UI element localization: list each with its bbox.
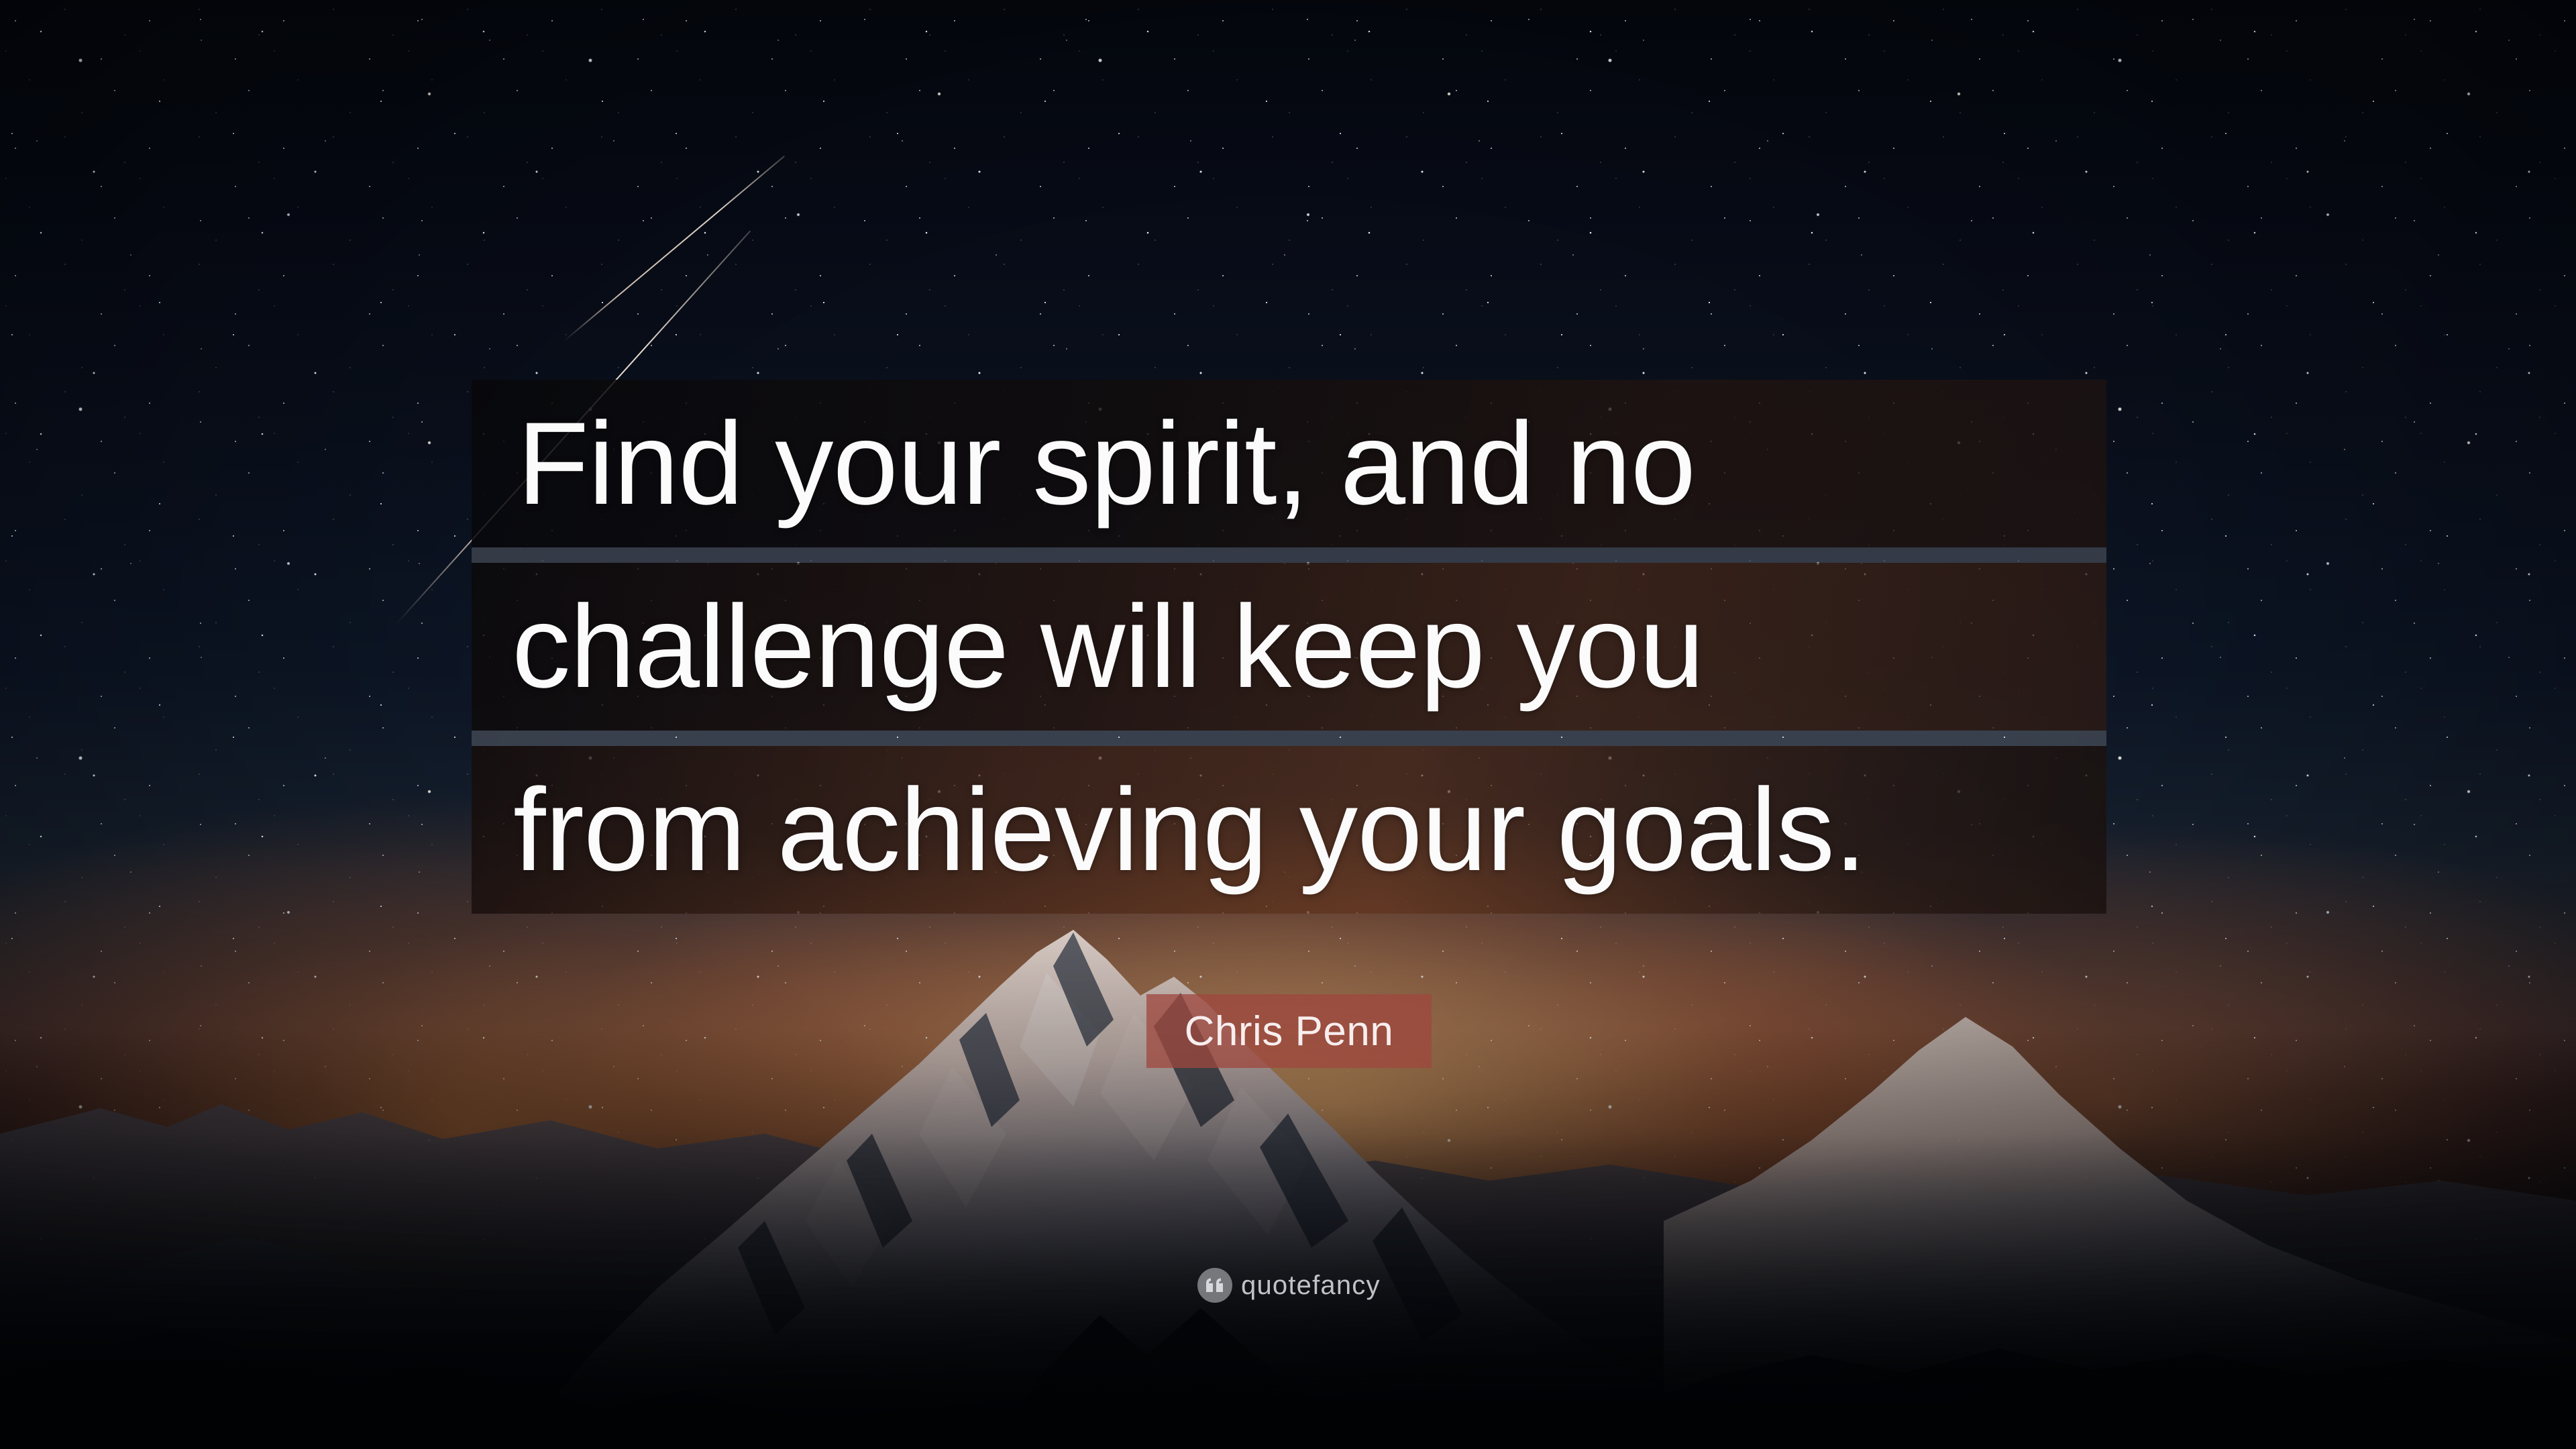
quote-line-2-text: challenge will keep you [472,588,1704,706]
author-badge: Chris Penn [1146,994,1432,1068]
quote-line-3: from achieving your goals. [472,746,2106,914]
quote-line-3-text: from achieving your goals. [472,771,1866,889]
quote-line-1-text: Find your spirit, and no [472,405,1695,523]
quote-line-gap-1 [472,547,2106,563]
quotefancy-brand-text: quotefancy [1241,1272,1381,1299]
quote-line-2: challenge will keep you [472,563,2106,731]
author-name: Chris Penn [1185,1008,1394,1055]
quote-text-block: Find your spirit, and no challenge will … [472,380,2106,914]
quotefancy-watermark[interactable]: quotefancy [1197,1268,1381,1303]
quote-line-1: Find your spirit, and no [472,380,2106,547]
quote-poster: Find your spirit, and no challenge will … [0,0,2576,1449]
quote-line-gap-2 [472,731,2106,746]
quote-mark-icon [1197,1268,1232,1303]
